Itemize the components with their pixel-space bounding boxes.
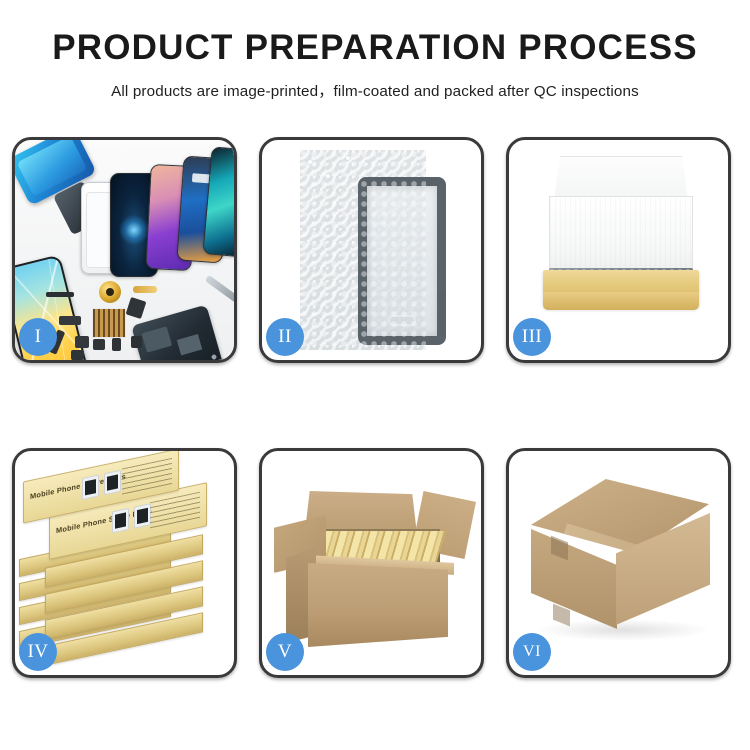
product-preparation-page: PRODUCT PREPARATION PROCESS All products… [0,0,750,750]
process-step-panel-3: III [506,137,731,363]
small-part-1 [59,316,81,325]
page-title: PRODUCT PREPARATION PROCESS [0,30,750,67]
flex-cable-part-1 [46,292,74,297]
process-step-grid: I II III [12,137,738,678]
gold-coil-part [99,281,121,303]
screen-assembly-shape [358,177,446,345]
step-badge-4: IV [19,633,57,671]
small-part-4 [93,339,105,350]
bubble-wrap-photo [300,150,426,350]
screws-part [211,354,234,360]
small-part-6 [131,336,142,348]
step-badge-3: III [513,318,551,356]
flex-cable-part-2 [133,286,157,293]
box-screen-thumb-2 [104,470,121,496]
process-step-panel-1: I [12,137,237,363]
small-part-5 [112,338,121,351]
kraft-box-front-shape [543,292,699,310]
page-header: PRODUCT PREPARATION PROCESS All products… [0,0,750,101]
home-button-shape [388,315,416,326]
step-badge-5: V [266,633,304,671]
carton-body-front [308,563,448,647]
process-step-panel-6: VI [506,448,731,678]
step-badge-6: VI [513,633,551,671]
box-screen-thumb-1 [82,474,99,500]
process-step-panel-5: V [259,448,484,678]
box-spec-lines-back [122,458,172,497]
box-screen-thumb-3 [112,508,129,534]
box-spec-lines-front [150,492,200,531]
step-badge-1: I [19,318,57,356]
foam-padding-shape [549,196,693,278]
page-subtitle: All products are image-printed，film-coat… [0,79,750,101]
small-part-3 [75,336,89,348]
step-badge-2: II [266,318,304,356]
process-step-panel-2: II [259,137,484,363]
process-step-panel-4: Mobile Phone Spare Parts Mobile Phone Sp… [12,448,237,678]
small-part-8 [71,350,84,360]
gold-chip-grid-part [92,308,126,338]
box-screen-thumb-4 [134,503,151,529]
